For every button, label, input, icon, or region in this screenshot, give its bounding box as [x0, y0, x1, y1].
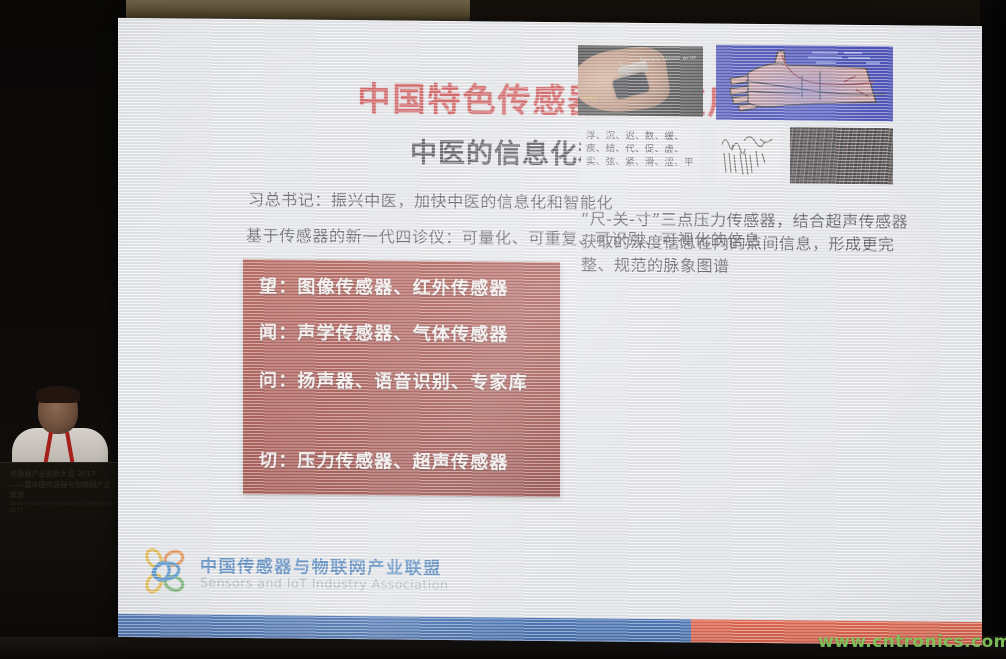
- four-diagnostics-box: 望：图像传感器、红外传感器 闻：声学传感器、气体传感器 问：扬声器、语音识别、专…: [243, 259, 560, 497]
- podium: 传感器产业创新大会 2017 ——暨中国传感器与物联网产业联盟 Sensor I…: [0, 462, 126, 637]
- wrist-photo-label: flexible sensor wrist: [640, 55, 697, 63]
- podium-sign-line2: ——暨中国传感器与物联网产业联盟: [10, 480, 116, 501]
- wrist-photo-label-2: sensor: [581, 95, 598, 101]
- podium-sign: 传感器产业创新大会 2017 ——暨中国传感器与物联网产业联盟 Sensor I…: [10, 469, 116, 503]
- diagnostic-row-wen: 闻：声学传感器、气体传感器: [259, 321, 550, 348]
- association-logo-icon: [140, 545, 192, 597]
- slide-caption: “尺-关-寸”三点压力传感器，结合超声传感器获取的深度信息在内的点间信息，形成更…: [581, 207, 911, 280]
- podium-sign-line1: 传感器产业创新大会 2017: [10, 469, 116, 480]
- hand-meridian-diagram: [716, 45, 893, 122]
- podium-sign-line3: Sensor Industry Innovation Conference 20…: [10, 501, 116, 516]
- pulse-waveform-sketch: [716, 129, 781, 182]
- fiber-noise-overlay: [790, 127, 893, 184]
- footer-logo: 中国传感器与物联网产业联盟 Sensors and IoT Industry A…: [140, 543, 520, 605]
- presentation-slide: 中国特色传感器新兴应用 中医的信息化和智能化 习总书记：振兴中医，加快中医的信息…: [118, 18, 982, 645]
- hand-diagram-glow: [716, 45, 893, 122]
- diagnostic-row-wang: 望：图像传感器、红外传感器: [259, 275, 550, 302]
- site-watermark: www.cntronics.com: [818, 632, 1006, 652]
- fiber-texture-photo: [790, 127, 893, 184]
- diagnostic-row-qie: 切：压力传感器、超声传感器: [259, 449, 550, 476]
- screenshot-root: 传感器产业创新大会 2017 ——暨中国传感器与物联网产业联盟 Sensor I…: [0, 0, 1006, 659]
- diagnostic-row-wen2: 问：扬声器、语音识别、专家库: [259, 369, 550, 396]
- room-right-edge: [980, 0, 1006, 659]
- logo-text-english: Sensors and IoT Industry Association: [200, 575, 448, 592]
- speaker-hair: [36, 386, 80, 403]
- pulse-waveform-svg: [716, 129, 781, 182]
- wrist-sensor-photo: flexible sensor wrist sensor: [578, 45, 703, 116]
- slide-bullet-1: 习总书记：振兴中医，加快中医的信息化和智能化: [248, 186, 613, 214]
- projection-screen: 中国特色传感器新兴应用 中医的信息化和智能化 习总书记：振兴中医，加快中医的信息…: [118, 18, 982, 645]
- pulse-types-list: 浮、沉、迟、数、缓、疾、结、代、促、虚、实、弦、紧、滑、涩、平: [581, 126, 701, 183]
- logo-flower-svg: [140, 545, 192, 597]
